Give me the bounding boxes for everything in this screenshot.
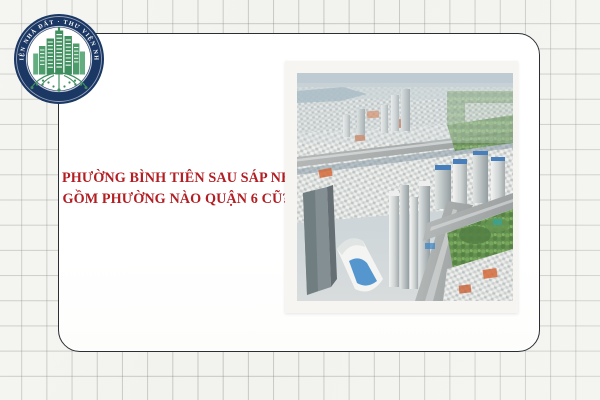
headline-line-1: PHƯỜNG BÌNH TIÊN SAU SÁP NHẬP	[62, 168, 290, 189]
banner-stage: PHƯỜNG BÌNH TIÊN SAU SÁP NHẬP GỒM PHƯỜNG…	[0, 0, 600, 400]
aerial-cityscape-photo	[297, 73, 513, 301]
thu-vien-nha-dat-logo: THƯ VIỆN NHÀ ĐẤT · THƯ VIỆN NHÀ ĐẤT www.…	[13, 13, 105, 105]
aerial-cityscape-illustration	[297, 73, 513, 301]
headline: PHƯỜNG BÌNH TIÊN SAU SÁP NHẬP GỒM PHƯỜNG…	[62, 168, 290, 210]
brand-logo[interactable]: THƯ VIỆN NHÀ ĐẤT · THƯ VIỆN NHÀ ĐẤT www.…	[13, 13, 105, 105]
photo-frame	[285, 61, 518, 313]
headline-line-2: GỒM PHƯỜNG NÀO QUẬN 6 CŨ?	[62, 189, 290, 210]
